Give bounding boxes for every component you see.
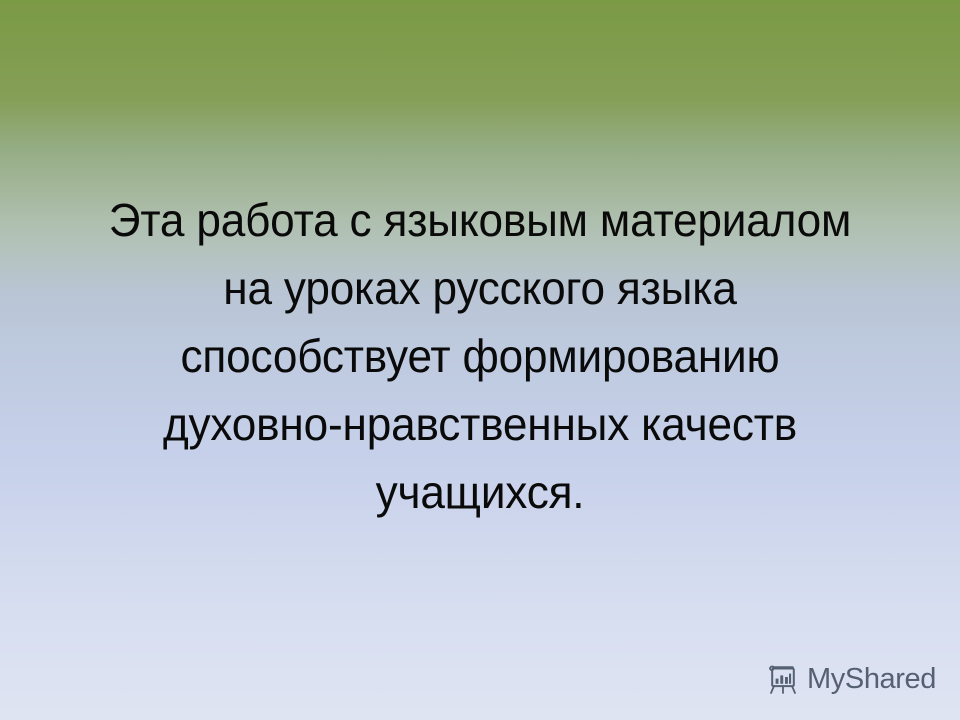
- myshared-flipchart-icon: [766, 662, 800, 696]
- myshared-watermark: MyShared: [766, 662, 936, 696]
- slide-text-line-5: учащихся.: [33, 458, 928, 526]
- myshared-label: MyShared: [807, 665, 936, 694]
- slide-text-line-3: способствует формированию: [33, 322, 928, 390]
- slide-text-line-1: Эта работа с языковым материалом: [33, 186, 928, 254]
- presentation-slide: Эта работа с языковым материалом на урок…: [0, 0, 960, 720]
- slide-text-line-2: на уроках русского языка: [33, 254, 928, 322]
- slide-text-line-4: духовно-нравственных качеств: [33, 390, 928, 458]
- slide-body-text: Эта работа с языковым материалом на урок…: [0, 186, 960, 526]
